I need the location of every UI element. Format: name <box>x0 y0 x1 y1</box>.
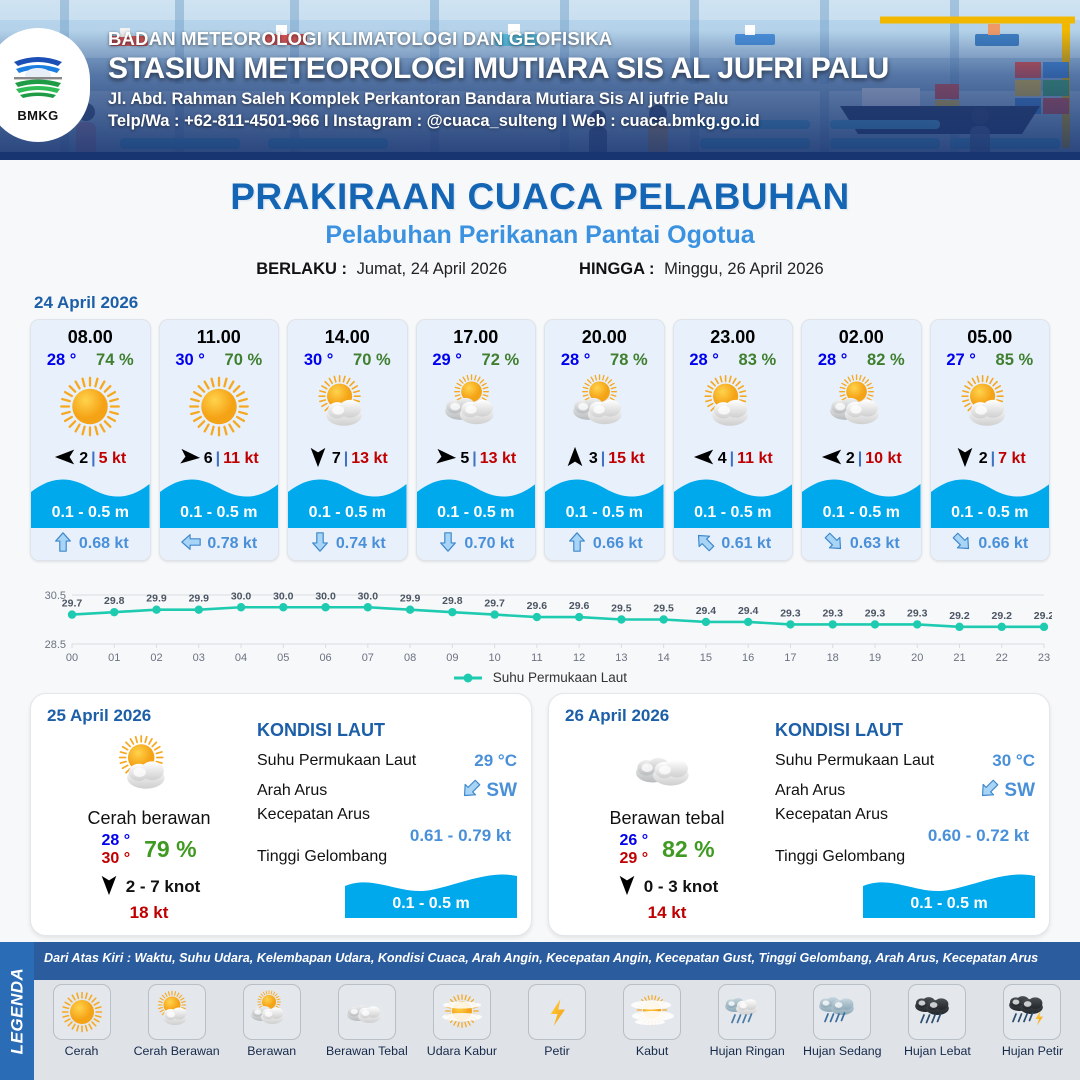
page-title: PRAKIRAAN CUACA PELABUHAN <box>0 176 1080 218</box>
current-speed-value: 0.61 - 0.79 kt <box>257 826 511 846</box>
svg-text:29.3: 29.3 <box>822 607 843 619</box>
wave-height-value: 0.1 - 0.5 m <box>931 504 1050 522</box>
panel-wave-band: 0.1 - 0.5 m <box>345 870 517 918</box>
current-speed-block: Kecepatan Arus 0.60 - 0.72 kt <box>775 806 1035 846</box>
card-current-row: 0.68 kt <box>31 528 150 560</box>
current-speed-value: 0.68 kt <box>79 535 129 553</box>
panel-condition: Cerah berawan <box>49 808 249 829</box>
card-current-row: 0.74 kt <box>288 528 407 560</box>
svg-text:07: 07 <box>362 652 374 664</box>
card-humidity: 74 % <box>96 351 134 370</box>
legend-item: Udara Kabur <box>414 984 509 1058</box>
card-temperature: 28 ° <box>689 351 719 370</box>
card-temp-humidity: 28 ° 74 % <box>31 348 150 370</box>
current-direction-label: Arah Arus <box>257 782 327 800</box>
wind-separator: | <box>216 450 220 468</box>
wind-direction-arrow-icon <box>564 446 586 473</box>
panel-humidity: 82 % <box>662 836 714 863</box>
hourly-card: 23.00 28 ° 83 % <box>673 319 794 561</box>
card-wind-row: 2 | 7 kt <box>931 444 1050 474</box>
panel-humidity: 79 % <box>144 836 196 863</box>
panel-wave-value: 0.1 - 0.5 m <box>863 895 1035 913</box>
weather-cerah-icon <box>53 984 111 1040</box>
svg-text:29.7: 29.7 <box>62 598 83 610</box>
wind-direction-value: 2 <box>79 450 88 468</box>
validity-row: BERLAKU : Jumat, 24 April 2026 HINGGA : … <box>0 260 1080 279</box>
bmkg-emblem-icon <box>8 48 68 106</box>
hourly-forecast-row: 08.00 28 ° 74 % <box>0 319 1080 561</box>
wind-gust-value: 7 kt <box>998 450 1026 468</box>
panel-wind-row: 0 - 3 knot <box>567 874 767 901</box>
infographic-page: BMKG BADAN METEOROLOGI KLIMATOLOGI DAN G… <box>0 0 1080 1080</box>
sea-conditions-title: KONDISI LAUT <box>775 720 1035 741</box>
legend-note-text: Dari Atas Kiri : Waktu, Suhu Udara, Kele… <box>44 951 1038 965</box>
svg-text:20: 20 <box>911 652 923 664</box>
current-direction-arrow-icon <box>437 531 459 558</box>
svg-text:29.3: 29.3 <box>865 607 886 619</box>
wind-direction-arrow-icon <box>693 446 715 473</box>
card-wave-band: 0.1 - 0.5 m <box>417 474 536 528</box>
card-temp-humidity: 30 ° 70 % <box>288 348 407 370</box>
weather-berawan-tebal-icon <box>338 984 396 1040</box>
panel-summary: Cerah berawan 28 ° 30 ° 79 % 2 - 7 knot … <box>49 732 249 923</box>
svg-text:29.3: 29.3 <box>907 607 928 619</box>
wind-direction-value: 5 <box>460 450 469 468</box>
current-direction-arrow-icon <box>180 531 202 558</box>
berlaku-group: BERLAKU : Jumat, 24 April 2026 <box>256 260 507 279</box>
current-direction-group: SW <box>460 778 517 805</box>
legend-item: Hujan Lebat <box>890 984 985 1058</box>
svg-text:08: 08 <box>404 652 416 664</box>
weather-berawan-icon <box>417 370 536 444</box>
card-temperature: 27 ° <box>946 351 976 370</box>
panel-gust-value: 14 kt <box>567 903 767 923</box>
weather-udara-kabur-icon <box>433 984 491 1040</box>
svg-text:23: 23 <box>1038 652 1050 664</box>
weather-cerah-icon <box>160 370 279 444</box>
card-wind-row: 4 | 11 kt <box>674 444 793 474</box>
card-current-row: 0.70 kt <box>417 528 536 560</box>
panel-temp-min: 26 ° <box>619 832 648 850</box>
wind-direction-value: 4 <box>718 450 727 468</box>
legend-item-label: Cerah Berawan <box>134 1044 220 1058</box>
panel-sea-conditions: KONDISI LAUT Suhu Permukaan Laut 30 °C A… <box>775 720 1035 918</box>
card-current-row: 0.66 kt <box>931 528 1050 560</box>
hourly-card: 14.00 30 ° 70 % <box>287 319 408 561</box>
svg-text:05: 05 <box>277 652 289 664</box>
wind-direction-arrow-icon <box>179 446 201 473</box>
weather-petir-icon <box>528 984 586 1040</box>
card-current-row: 0.66 kt <box>545 528 664 560</box>
sst-label: Suhu Permukaan Laut <box>775 752 934 770</box>
weather-cerah-berawan-icon <box>288 370 407 444</box>
card-time: 17.00 <box>417 320 536 348</box>
weather-cerah-berawan-icon <box>49 732 249 804</box>
current-speed-value: 0.74 kt <box>336 535 386 553</box>
sst-value: 29 °C <box>474 751 517 771</box>
svg-text:29.3: 29.3 <box>780 607 801 619</box>
daily-forecast-row: 25 April 2026 <box>0 693 1080 936</box>
bmkg-logo: BMKG <box>0 28 90 142</box>
wave-height-value: 0.1 - 0.5 m <box>417 504 536 522</box>
wind-separator: | <box>91 450 95 468</box>
card-temperature: 29 ° <box>432 351 462 370</box>
card-time: 05.00 <box>931 320 1050 348</box>
weather-cerah-berawan-icon <box>148 984 206 1040</box>
card-wind-row: 7 | 13 kt <box>288 444 407 474</box>
current-speed-value: 0.66 kt <box>978 535 1028 553</box>
svg-text:00: 00 <box>66 652 78 664</box>
page-header: BMKG BADAN METEOROLOGI KLIMATOLOGI DAN G… <box>0 0 1080 160</box>
current-speed-value: 0.61 kt <box>721 535 771 553</box>
card-humidity: 70 % <box>353 351 391 370</box>
wind-gust-value: 15 kt <box>608 450 644 468</box>
legend-item: Petir <box>509 984 604 1058</box>
wind-direction-value: 7 <box>332 450 341 468</box>
current-speed-value: 0.78 kt <box>207 535 257 553</box>
wind-direction-value: 2 <box>979 450 988 468</box>
card-wind-row: 2 | 5 kt <box>31 444 150 474</box>
card-wave-band: 0.1 - 0.5 m <box>674 474 793 528</box>
svg-text:11: 11 <box>531 652 542 664</box>
card-time: 11.00 <box>160 320 279 348</box>
card-wind-row: 2 | 10 kt <box>802 444 921 474</box>
svg-text:03: 03 <box>193 652 205 664</box>
svg-text:29.2: 29.2 <box>1034 610 1052 622</box>
card-temp-humidity: 28 ° 82 % <box>802 348 921 370</box>
legend-item-label: Cerah <box>65 1044 99 1058</box>
current-direction-arrow-icon <box>694 531 716 558</box>
weather-cerah-berawan-icon <box>674 370 793 444</box>
legend-item-label: Hujan Ringan <box>710 1044 785 1058</box>
weather-hujan-lebat-icon <box>908 984 966 1040</box>
header-text-block: BADAN METEOROLOGI KLIMATOLOGI DAN GEOFIS… <box>108 28 889 131</box>
weather-berawan-icon <box>243 984 301 1040</box>
wind-separator: | <box>601 450 605 468</box>
current-direction-arrow-icon <box>52 531 74 558</box>
legend-item-label: Berawan <box>247 1044 296 1058</box>
panel-wind-range: 0 - 3 knot <box>644 877 719 897</box>
card-time: 20.00 <box>545 320 664 348</box>
chart-legend: Suhu Permukaan Laut <box>0 670 1080 685</box>
svg-text:30.0: 30.0 <box>358 590 379 602</box>
hourly-card: 08.00 28 ° 74 % <box>30 319 151 561</box>
sst-chart: 30.528.500010203040506070809101112131415… <box>28 573 1052 668</box>
svg-text:14: 14 <box>658 652 670 664</box>
legend-item: Hujan Sedang <box>795 984 890 1058</box>
panel-temp-max: 29 ° <box>619 850 648 868</box>
current-speed-block: Kecepatan Arus 0.61 - 0.79 kt <box>257 806 517 846</box>
legend-item: Hujan Petir <box>985 984 1080 1058</box>
panel-wind-range: 2 - 7 knot <box>126 877 201 897</box>
hingga-label: HINGGA : <box>579 260 654 278</box>
card-temperature: 28 ° <box>561 351 591 370</box>
svg-text:29.8: 29.8 <box>442 595 463 607</box>
card-time: 08.00 <box>31 320 150 348</box>
card-wind-row: 3 | 15 kt <box>545 444 664 474</box>
current-direction-row: Arah Arus SW <box>257 776 517 806</box>
svg-text:29.7: 29.7 <box>484 598 505 610</box>
wind-separator: | <box>472 450 476 468</box>
legend-item: Berawan <box>224 984 319 1058</box>
wind-gust-value: 5 kt <box>99 450 127 468</box>
card-temp-humidity: 27 ° 85 % <box>931 348 1050 370</box>
panel-temp-min: 28 ° <box>101 832 130 850</box>
panel-wave-value: 0.1 - 0.5 m <box>345 895 517 913</box>
panel-temp-range: 26 ° 29 ° <box>619 832 648 868</box>
wind-gust-value: 11 kt <box>737 450 773 468</box>
wind-direction-arrow-icon <box>54 446 76 473</box>
panel-wave-band: 0.1 - 0.5 m <box>863 870 1035 918</box>
card-temp-humidity: 28 ° 83 % <box>674 348 793 370</box>
wind-separator: | <box>991 450 995 468</box>
wind-direction-arrow-icon <box>616 874 638 901</box>
card-wind-row: 6 | 11 kt <box>160 444 279 474</box>
card-wave-band: 0.1 - 0.5 m <box>160 474 279 528</box>
sea-conditions-title: KONDISI LAUT <box>257 720 517 741</box>
svg-text:04: 04 <box>235 652 247 664</box>
panel-sea-conditions: KONDISI LAUT Suhu Permukaan Laut 29 °C A… <box>257 720 517 918</box>
wave-height-label: Tinggi Gelombang <box>775 848 1035 866</box>
card-time: 02.00 <box>802 320 921 348</box>
page-subtitle: Pelabuhan Perikanan Pantai Ogotua <box>0 221 1080 250</box>
svg-text:10: 10 <box>488 652 500 664</box>
card-wave-band: 0.1 - 0.5 m <box>802 474 921 528</box>
bmkg-logo-text: BMKG <box>17 108 58 123</box>
sst-row: Suhu Permukaan Laut 29 °C <box>257 746 517 776</box>
hourly-card: 17.00 29 ° 72 % <box>416 319 537 561</box>
card-current-row: 0.63 kt <box>802 528 921 560</box>
current-direction-group: SW <box>978 778 1035 805</box>
hourly-card: 05.00 27 ° 85 % <box>930 319 1051 561</box>
card-humidity: 70 % <box>225 351 263 370</box>
svg-text:29.8: 29.8 <box>104 595 125 607</box>
berlaku-label: BERLAKU : <box>256 260 347 278</box>
svg-text:06: 06 <box>319 652 331 664</box>
svg-text:12: 12 <box>573 652 585 664</box>
svg-text:16: 16 <box>742 652 754 664</box>
legend-item: Kabut <box>605 984 700 1058</box>
svg-text:29.2: 29.2 <box>949 610 970 622</box>
legend-item-label: Hujan Lebat <box>904 1044 971 1058</box>
station-name: STASIUN METEOROLOGI MUTIARA SIS AL JUFRI… <box>108 52 889 86</box>
panel-wind-row: 2 - 7 knot <box>49 874 249 901</box>
current-direction-label: Arah Arus <box>775 782 845 800</box>
card-humidity: 82 % <box>867 351 905 370</box>
panel-gust-value: 18 kt <box>49 903 249 923</box>
svg-text:30.0: 30.0 <box>231 590 252 602</box>
legend-item-label: Hujan Petir <box>1002 1044 1063 1058</box>
current-speed-label: Kecepatan Arus <box>775 806 1035 824</box>
hourly-card: 02.00 28 ° 82 % <box>801 319 922 561</box>
wind-separator: | <box>344 450 348 468</box>
legend-item: Berawan Tebal <box>319 984 414 1058</box>
hingga-value: Minggu, 26 April 2026 <box>664 260 824 278</box>
daily-forecast-panel: 26 April 2026 <box>548 693 1050 936</box>
panel-temp-humidity: 28 ° 30 ° 79 % <box>49 832 249 868</box>
wave-height-value: 0.1 - 0.5 m <box>545 504 664 522</box>
wind-direction-arrow-icon <box>435 446 457 473</box>
wind-direction-arrow-icon <box>307 446 329 473</box>
wind-separator: | <box>858 450 862 468</box>
sst-value: 30 °C <box>992 751 1035 771</box>
current-speed-value: 0.66 kt <box>593 535 643 553</box>
current-direction-arrow-icon <box>978 778 1000 805</box>
legend-item: Cerah Berawan <box>129 984 224 1058</box>
card-temperature: 28 ° <box>818 351 848 370</box>
svg-text:29.6: 29.6 <box>527 600 548 612</box>
legend-item: Hujan Ringan <box>700 984 795 1058</box>
card-humidity: 83 % <box>739 351 777 370</box>
svg-text:29.5: 29.5 <box>653 603 674 615</box>
wind-direction-value: 3 <box>589 450 598 468</box>
current-direction-arrow-icon <box>951 531 973 558</box>
card-temp-humidity: 30 ° 70 % <box>160 348 279 370</box>
panel-temp-range: 28 ° 30 ° <box>101 832 130 868</box>
panel-summary: Berawan tebal 26 ° 29 ° 82 % 0 - 3 knot … <box>567 732 767 923</box>
svg-text:18: 18 <box>827 652 839 664</box>
svg-text:13: 13 <box>615 652 627 664</box>
current-direction-arrow-icon <box>823 531 845 558</box>
wave-height-value: 0.1 - 0.5 m <box>802 504 921 522</box>
station-address: Jl. Abd. Rahman Saleh Komplek Perkantora… <box>108 90 889 109</box>
svg-text:29.6: 29.6 <box>569 600 590 612</box>
card-wave-band: 0.1 - 0.5 m <box>288 474 407 528</box>
card-humidity: 72 % <box>482 351 520 370</box>
weather-hujan-petir-icon <box>1003 984 1061 1040</box>
current-speed-value: 0.70 kt <box>464 535 514 553</box>
svg-text:22: 22 <box>996 652 1008 664</box>
svg-text:29.9: 29.9 <box>146 593 167 605</box>
wave-height-value: 0.1 - 0.5 m <box>288 504 407 522</box>
sst-label: Suhu Permukaan Laut <box>257 752 416 770</box>
svg-text:29.9: 29.9 <box>189 593 210 605</box>
wind-direction-arrow-icon <box>98 874 120 901</box>
hourly-card: 11.00 30 ° 70 % <box>159 319 280 561</box>
svg-text:29.5: 29.5 <box>611 603 632 615</box>
sst-row: Suhu Permukaan Laut 30 °C <box>775 746 1035 776</box>
wind-direction-value: 2 <box>846 450 855 468</box>
weather-berawan-tebal-icon <box>567 732 767 804</box>
wave-height-value: 0.1 - 0.5 m <box>31 504 150 522</box>
weather-hujan-sedang-icon <box>813 984 871 1040</box>
current-direction-row: Arah Arus SW <box>775 776 1035 806</box>
wind-direction-value: 6 <box>204 450 213 468</box>
card-wave-band: 0.1 - 0.5 m <box>31 474 150 528</box>
station-contact: Telp/Wa : +62-811-4501-966 I Instagram :… <box>108 112 889 131</box>
svg-text:09: 09 <box>446 652 458 664</box>
legend-item: Cerah <box>34 984 129 1058</box>
weather-kabut-icon <box>623 984 681 1040</box>
hourly-day-label: 24 April 2026 <box>34 293 1080 313</box>
card-current-row: 0.61 kt <box>674 528 793 560</box>
card-temperature: 30 ° <box>175 351 205 370</box>
svg-text:30.0: 30.0 <box>315 590 336 602</box>
legend-item-label: Hujan Sedang <box>803 1044 882 1058</box>
card-wave-band: 0.1 - 0.5 m <box>545 474 664 528</box>
current-speed-label: Kecepatan Arus <box>257 806 517 824</box>
weather-cerah-berawan-icon <box>931 370 1050 444</box>
svg-text:29.4: 29.4 <box>696 605 717 617</box>
svg-text:29.4: 29.4 <box>738 605 759 617</box>
wind-direction-arrow-icon <box>954 446 976 473</box>
current-direction-value: SW <box>486 780 517 802</box>
panel-condition: Berawan tebal <box>567 808 767 829</box>
panel-temp-max: 30 ° <box>101 850 130 868</box>
wave-height-value: 0.1 - 0.5 m <box>160 504 279 522</box>
card-temperature: 28 ° <box>47 351 77 370</box>
legend-footer: Dari Atas Kiri : Waktu, Suhu Udara, Kele… <box>0 942 1080 1080</box>
weather-cerah-icon <box>31 370 150 444</box>
chart-legend-label: Suhu Permukaan Laut <box>493 670 627 685</box>
wind-gust-value: 10 kt <box>865 450 901 468</box>
legend-item-label: Petir <box>544 1044 569 1058</box>
card-temperature: 30 ° <box>304 351 334 370</box>
svg-text:15: 15 <box>700 652 712 664</box>
weather-berawan-icon <box>545 370 664 444</box>
wind-separator: | <box>730 450 734 468</box>
card-wind-row: 5 | 13 kt <box>417 444 536 474</box>
svg-text:21: 21 <box>953 652 965 664</box>
current-direction-arrow-icon <box>309 531 331 558</box>
weather-hujan-ringan-icon <box>718 984 776 1040</box>
current-direction-value: SW <box>1004 780 1035 802</box>
svg-text:02: 02 <box>150 652 162 664</box>
weather-berawan-icon <box>802 370 921 444</box>
svg-text:30.0: 30.0 <box>273 590 294 602</box>
current-direction-arrow-icon <box>566 531 588 558</box>
agency-name: BADAN METEOROLOGI KLIMATOLOGI DAN GEOFIS… <box>108 28 889 50</box>
wind-gust-value: 11 kt <box>223 450 259 468</box>
svg-text:19: 19 <box>869 652 881 664</box>
card-temp-humidity: 29 ° 72 % <box>417 348 536 370</box>
card-time: 23.00 <box>674 320 793 348</box>
legend-item-label: Udara Kabur <box>427 1044 497 1058</box>
legend-icon-list: Cerah Ce <box>34 984 1080 1058</box>
current-direction-arrow-icon <box>460 778 482 805</box>
hingga-group: HINGGA : Minggu, 26 April 2026 <box>579 260 824 279</box>
legenda-tab: LEGENDA <box>0 942 34 1080</box>
daily-forecast-panel: 25 April 2026 <box>30 693 532 936</box>
svg-text:01: 01 <box>108 652 120 664</box>
legend-item-label: Kabut <box>636 1044 668 1058</box>
hourly-card: 20.00 28 ° 78 % <box>544 319 665 561</box>
wind-gust-value: 13 kt <box>351 450 387 468</box>
svg-text:17: 17 <box>784 652 796 664</box>
card-humidity: 78 % <box>610 351 648 370</box>
legenda-tab-label: LEGENDA <box>7 968 27 1055</box>
current-speed-value: 0.63 kt <box>850 535 900 553</box>
card-humidity: 85 % <box>996 351 1034 370</box>
current-speed-value: 0.60 - 0.72 kt <box>775 826 1029 846</box>
legend-item-label: Berawan Tebal <box>326 1044 408 1058</box>
berlaku-value: Jumat, 24 April 2026 <box>357 260 507 278</box>
panel-temp-humidity: 26 ° 29 ° 82 % <box>567 832 767 868</box>
card-current-row: 0.78 kt <box>160 528 279 560</box>
svg-text:29.9: 29.9 <box>400 593 421 605</box>
wind-gust-value: 13 kt <box>480 450 516 468</box>
card-time: 14.00 <box>288 320 407 348</box>
legend-marker-icon <box>453 672 483 684</box>
wave-height-value: 0.1 - 0.5 m <box>674 504 793 522</box>
card-temp-humidity: 28 ° 78 % <box>545 348 664 370</box>
wave-height-label: Tinggi Gelombang <box>257 848 517 866</box>
svg-text:28.5: 28.5 <box>45 639 66 651</box>
wind-direction-arrow-icon <box>821 446 843 473</box>
card-wave-band: 0.1 - 0.5 m <box>931 474 1050 528</box>
svg-text:29.2: 29.2 <box>992 610 1013 622</box>
